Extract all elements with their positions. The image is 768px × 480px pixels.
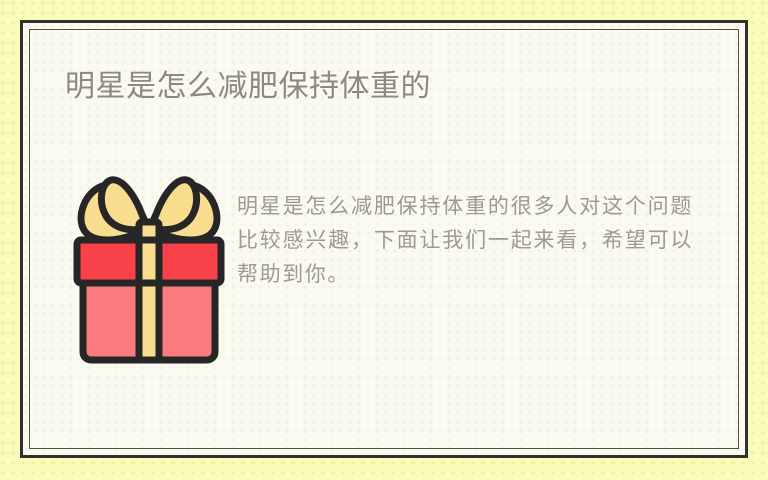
page-title: 明星是怎么减肥保持体重的 xyxy=(65,67,711,106)
page-background: 明星是怎么减肥保持体重的 xyxy=(0,0,768,480)
card-content-row: 明星是怎么减肥保持体重的很多人对这个问题比较感兴趣，下面让我们一起来看，希望可以… xyxy=(61,164,711,372)
article-summary: 明星是怎么减肥保持体重的很多人对这个问题比较感兴趣，下面让我们一起来看，希望可以… xyxy=(237,185,711,291)
gift-box-icon xyxy=(65,166,233,372)
article-card: 明星是怎么减肥保持体重的 xyxy=(23,23,745,455)
illustration-container xyxy=(61,164,237,372)
card-frame-outer: 明星是怎么减肥保持体重的 xyxy=(20,20,748,458)
